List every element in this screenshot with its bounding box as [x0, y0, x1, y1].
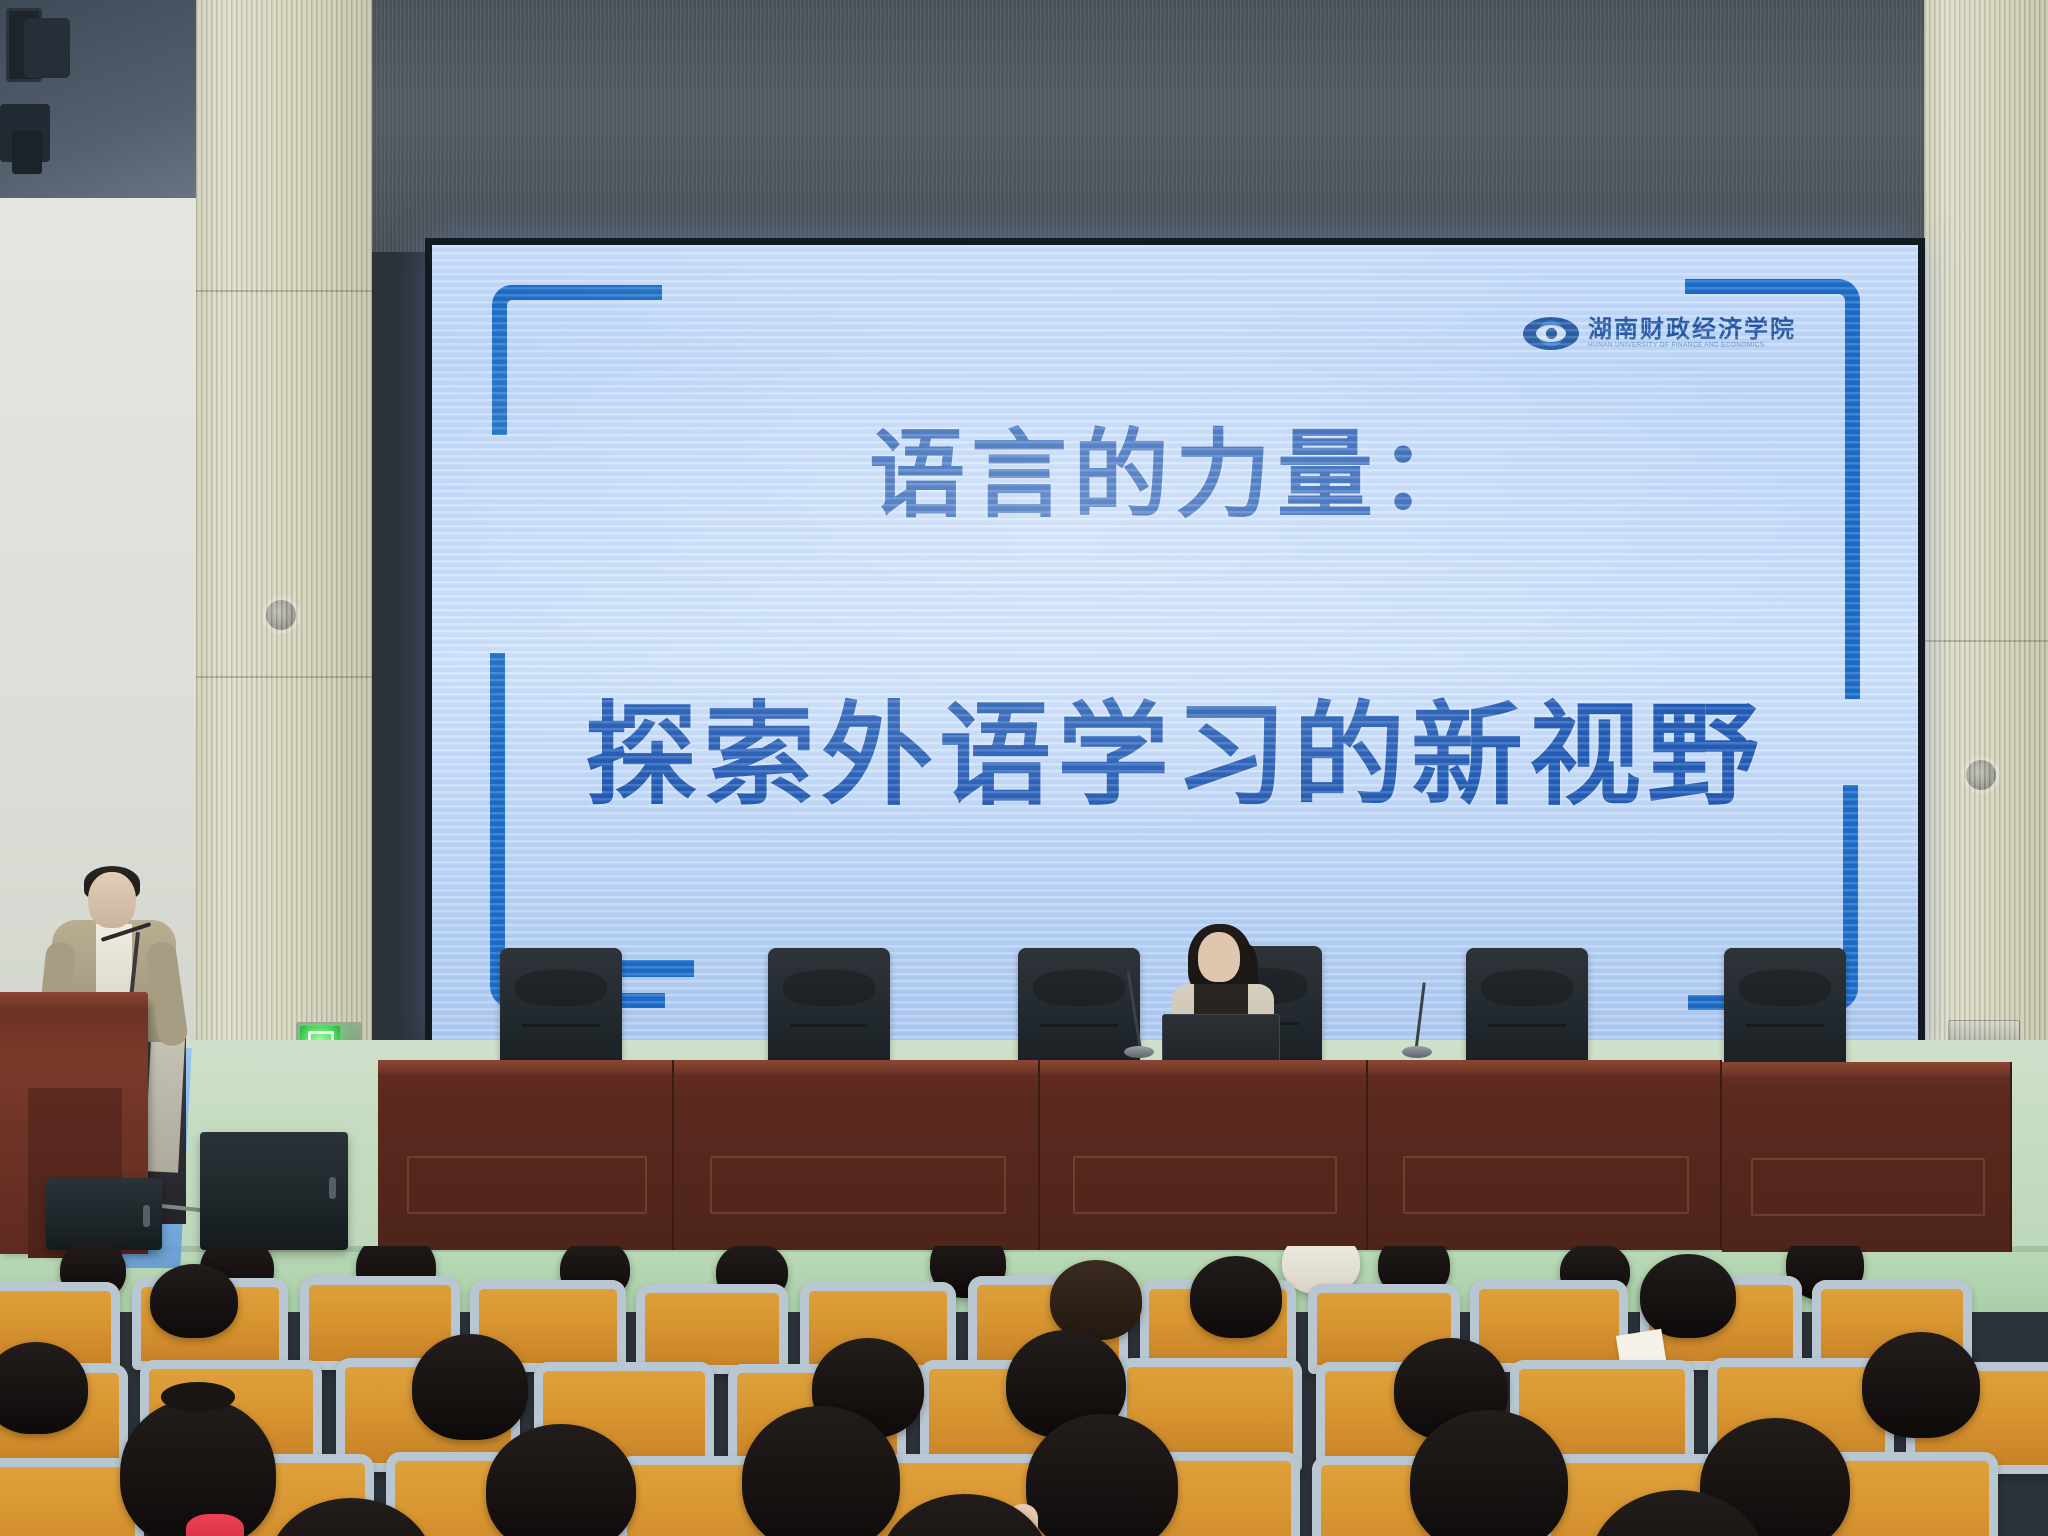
head-table-chair	[1466, 948, 1588, 1066]
audience-seat	[636, 1284, 788, 1374]
led-screen-frame: 湖南财政经济学院 HUNAN UNIVERSITY OF FINANCE AND…	[425, 238, 1925, 1048]
audience-head	[150, 1264, 238, 1338]
head-table-section	[1722, 1062, 2012, 1252]
university-logo: 湖南财政经济学院 HUNAN UNIVERSITY OF FINANCE AND…	[1523, 317, 1796, 350]
audience-head	[412, 1334, 528, 1440]
audience-head	[1190, 1256, 1282, 1338]
audience-seating	[0, 1246, 2048, 1536]
slide-title-line-1: 语言的力量：	[432, 397, 1918, 536]
acoustic-panel-left	[196, 0, 372, 1050]
presentation-slide: 湖南财政经济学院 HUNAN UNIVERSITY OF FINANCE AND…	[432, 245, 1918, 1041]
host-head	[1198, 932, 1240, 982]
audience-head	[1640, 1254, 1736, 1338]
auditorium-scene: 湖南财政经济学院 HUNAN UNIVERSITY OF FINANCE AND…	[0, 0, 2048, 1536]
audience-clothing-accent	[186, 1514, 244, 1536]
wall-speaker-icon	[1966, 760, 1996, 790]
university-name-cn: 湖南财政经济学院	[1588, 317, 1796, 342]
head-table-section	[1040, 1060, 1368, 1250]
head-table-section	[1368, 1060, 1722, 1250]
presenter-head	[88, 872, 136, 928]
microphone-base	[1402, 1046, 1432, 1058]
head-table-chair	[768, 948, 890, 1066]
university-emblem-icon	[1523, 317, 1579, 350]
head-table-section	[378, 1060, 674, 1250]
head-table-chair	[1018, 948, 1140, 1066]
podium-top	[0, 992, 148, 1012]
audience-head	[1862, 1332, 1980, 1438]
stage-light-icon	[24, 18, 70, 78]
microphone-base	[1124, 1046, 1154, 1058]
head-table-section	[674, 1060, 1040, 1250]
university-name-en: HUNAN UNIVERSITY OF FINANCE AND ECONOMIC…	[1588, 342, 1796, 349]
stage-light-icon	[12, 130, 42, 174]
head-table-chair	[500, 948, 622, 1066]
slide-title-line-2: 探索外语学习的新视野	[432, 665, 1918, 827]
head-table-chair	[1724, 948, 1846, 1066]
wall-speaker-icon	[266, 600, 296, 630]
acoustic-panel-right	[1924, 0, 2048, 1090]
floor-monitor-speaker	[200, 1132, 348, 1250]
audience-head	[1050, 1260, 1142, 1340]
floor-monitor-speaker	[46, 1178, 162, 1250]
